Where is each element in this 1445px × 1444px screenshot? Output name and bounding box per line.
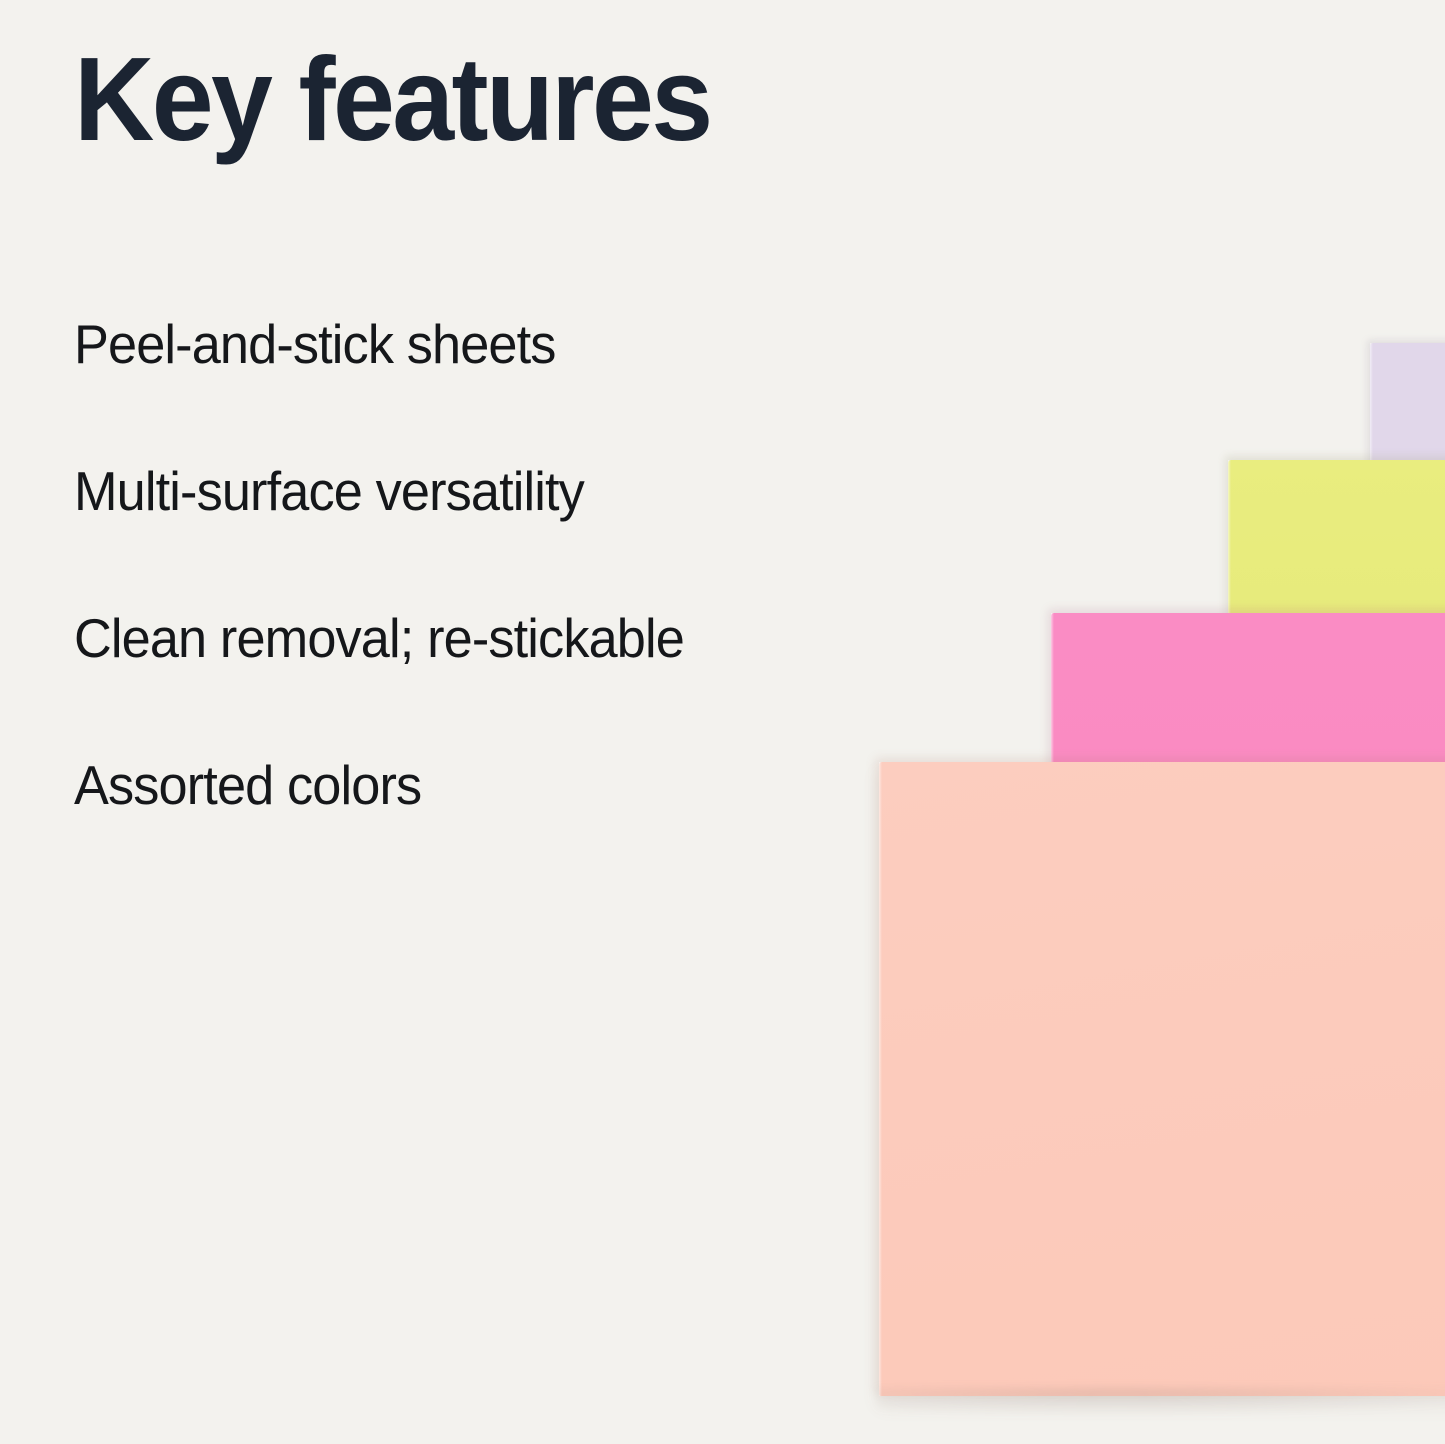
list-item: Multi-surface versatility: [74, 464, 825, 611]
page-title: Key features: [74, 40, 711, 159]
feature-list: Peel-and-stick sheets Multi-surface vers…: [74, 317, 864, 905]
note-edge-highlight: [879, 762, 882, 1396]
product-feature-card: Key features Peel-and-stick sheets Multi…: [0, 0, 1445, 1444]
list-item: Assorted colors: [74, 758, 825, 905]
list-item: Clean removal; re-stickable: [74, 611, 825, 758]
list-item: Peel-and-stick sheets: [74, 317, 825, 464]
text-column: Key features Peel-and-stick sheets Multi…: [0, 0, 860, 1444]
peach-sticky-note: [879, 762, 1445, 1396]
